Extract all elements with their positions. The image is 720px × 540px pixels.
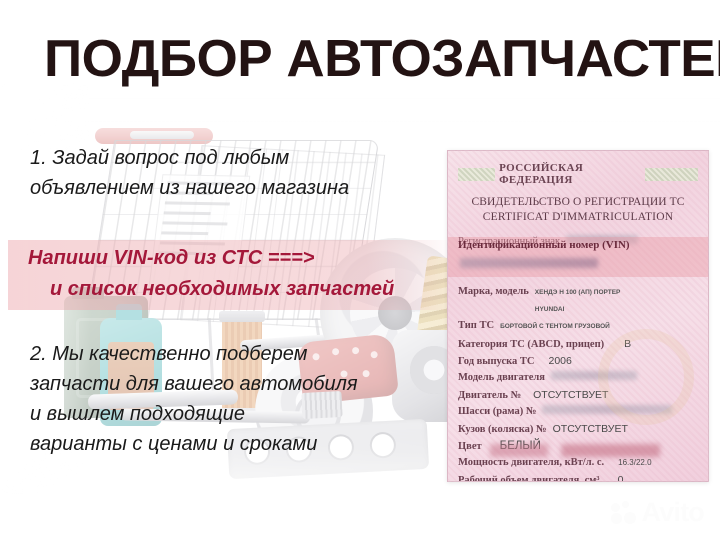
doc-value-make-model: ХЕНДЭ Н 100 (АП) ПОРТЕР bbox=[535, 285, 621, 301]
doc-label-body: Кузов (коляска) № bbox=[458, 422, 547, 438]
doc-watermark-ring bbox=[598, 329, 694, 425]
doc-label-engine-model: Модель двигателя bbox=[458, 370, 545, 386]
doc-label-make-model: Марка, модель bbox=[458, 284, 529, 300]
redacted-doc-footer bbox=[490, 444, 660, 457]
doc-title-fr: CERTIFICAT D'IMMATRICULATION bbox=[458, 210, 698, 225]
doc-value-engine-no: ОТСУТСТВУЕТ bbox=[533, 387, 608, 403]
vehicle-registration-certificate: РОССИЙСКАЯ ФЕДЕРАЦИЯ СВИДЕТЕЛЬСТВО О РЕГ… bbox=[447, 150, 709, 482]
doc-title-block: СВИДЕТЕЛЬСТВО О РЕГИСТРАЦИИ ТС CERTIFICA… bbox=[458, 195, 698, 225]
doc-label-category: Категория ТС (ABCD, прицеп) bbox=[458, 337, 604, 353]
doc-row-make-model: Марка, модель ХЕНДЭ Н 100 (АП) ПОРТЕР HY… bbox=[458, 284, 698, 318]
doc-label-year: Год выпуска ТС bbox=[458, 354, 535, 370]
vin-cta-line-1: Напиши VIN-код из СТС ===> bbox=[28, 243, 458, 274]
avito-watermark: Avito bbox=[611, 499, 705, 526]
doc-value-make-model-latin: HYUNDAI bbox=[535, 302, 621, 318]
step-1-line-2: объявлением из нашего магазина bbox=[30, 173, 430, 203]
doc-label-color: Цвет bbox=[458, 439, 482, 455]
doc-value-body: ОТСУТСТВУЕТ bbox=[553, 421, 628, 437]
step-1-line-1: 1. Задай вопрос под любым bbox=[30, 143, 430, 173]
step-2-text: 2. Мы качественно подберем запчасти для … bbox=[30, 339, 450, 459]
page-title: ПОДБОР АВТОЗАПЧАСТЕЙ bbox=[44, 32, 707, 86]
doc-row-body: Кузов (коляска) № ОТСУТСТВУЕТ bbox=[458, 421, 698, 438]
step-2-line-3: и вышлем подходящие bbox=[30, 399, 450, 429]
step-2-line-1: 2. Мы качественно подберем bbox=[30, 339, 450, 369]
poster-canvas: MOTOR ПОДБОР АВТОЗАПЧАСТЕЙ 1. Задай вопр… bbox=[0, 0, 720, 540]
doc-label-type: Тип ТС bbox=[458, 318, 494, 334]
avito-wordmark: Avito bbox=[642, 499, 705, 526]
vin-cta-line-2: и список необходимых запчастей bbox=[28, 274, 458, 305]
doc-row-power: Мощность двигателя, кВт/л. с. 16.3/22.0 bbox=[458, 455, 698, 471]
step-2-line-2: запчасти для вашего автомобиля bbox=[30, 369, 450, 399]
doc-country-label: РОССИЙСКАЯ ФЕДЕРАЦИЯ bbox=[499, 162, 641, 186]
vin-call-to-action: Напиши VIN-код из СТС ===> и список необ… bbox=[28, 243, 458, 305]
doc-value-year: 2006 bbox=[549, 353, 572, 369]
guilloche-pattern-left bbox=[458, 168, 495, 181]
doc-label-chassis: Шасси (рама) № bbox=[458, 404, 536, 420]
doc-vin-label: Идентификационный номер (VIN) bbox=[458, 239, 630, 251]
guilloche-pattern-right bbox=[645, 168, 698, 181]
doc-label-power: Мощность двигателя, кВт/л. с. bbox=[458, 455, 604, 471]
redacted-vin-value bbox=[460, 258, 598, 268]
doc-value-power: 16.3/22.0 bbox=[618, 455, 651, 471]
avito-logo-icon bbox=[611, 501, 637, 525]
step-2-line-4: варианты с ценами и сроками bbox=[30, 429, 450, 459]
doc-value-type: БОРТОВОЙ С ТЕНТОМ ГРУЗОВОЙ bbox=[500, 319, 610, 335]
doc-label-displacement: Рабочий объем двигателя, см³ bbox=[458, 473, 600, 482]
doc-label-engine-no: Двигатель № bbox=[458, 388, 521, 404]
doc-country-header: РОССИЙСКАЯ ФЕДЕРАЦИЯ bbox=[458, 162, 698, 186]
doc-row-displacement: Рабочий объем двигателя, см³ 0 bbox=[458, 472, 698, 482]
step-1-text: 1. Задай вопрос под любым объявлением из… bbox=[30, 143, 430, 203]
doc-title-ru: СВИДЕТЕЛЬСТВО О РЕГИСТРАЦИИ ТС bbox=[458, 195, 698, 210]
doc-value-displacement: 0 bbox=[618, 472, 624, 482]
